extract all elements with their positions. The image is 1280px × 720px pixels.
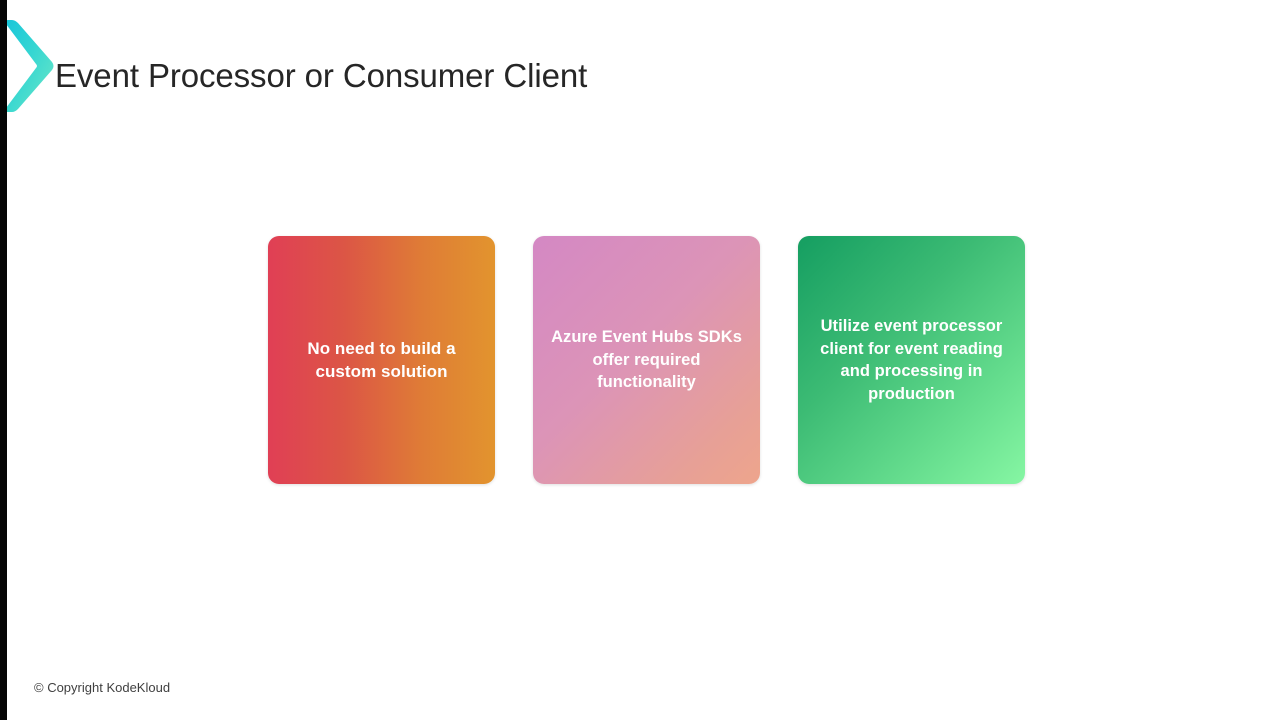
- info-card-sdk-functionality[interactable]: Azure Event Hubs SDKs offer required fun…: [533, 236, 760, 484]
- chevron-right-icon: [2, 18, 58, 114]
- info-card-text: Azure Event Hubs SDKs offer required fun…: [547, 326, 746, 394]
- page-title: Event Processor or Consumer Client: [55, 53, 587, 99]
- info-card-text: Utilize event processor client for event…: [812, 315, 1011, 405]
- card-row: No need to build a custom solution Azure…: [268, 236, 1025, 484]
- info-card-event-processor-client[interactable]: Utilize event processor client for event…: [798, 236, 1025, 484]
- slide-canvas: Event Processor or Consumer Client No ne…: [0, 0, 1280, 720]
- copyright-footer: © Copyright KodeKloud: [34, 679, 170, 697]
- info-card-no-custom-solution[interactable]: No need to build a custom solution: [268, 236, 495, 484]
- info-card-text: No need to build a custom solution: [282, 337, 481, 383]
- left-edge-bar: [0, 0, 7, 720]
